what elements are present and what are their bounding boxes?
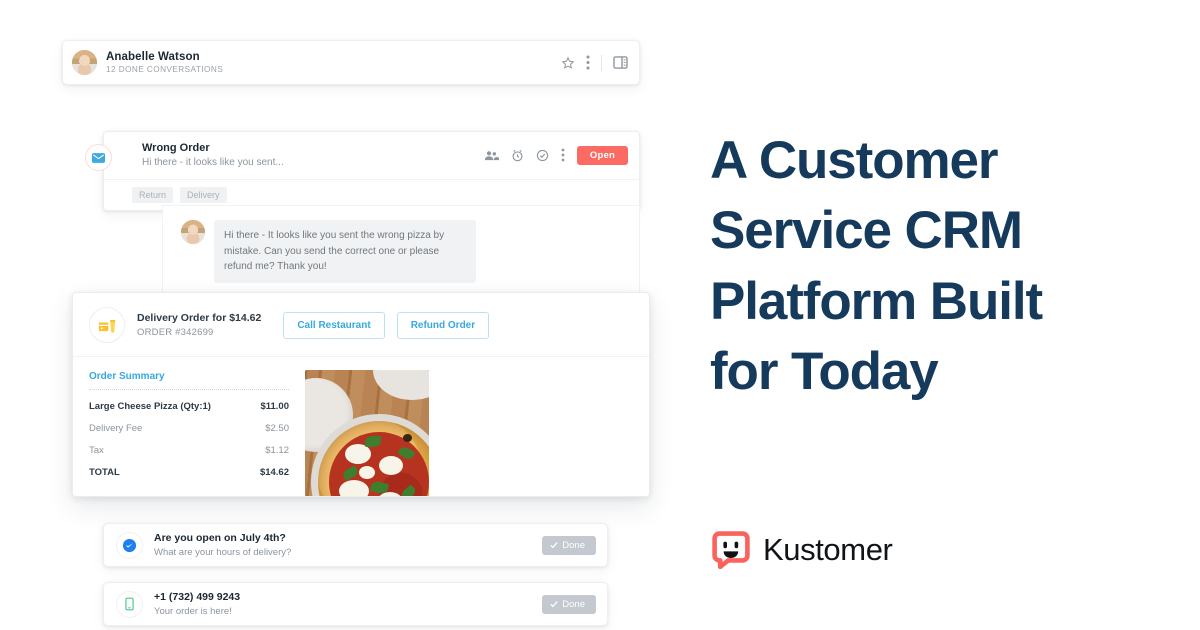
order-card-buttons: Call Restaurant Refund Order (283, 312, 489, 339)
food-delivery-icon (89, 307, 125, 343)
contact-meta: Anabelle Watson 12 DONE CONVERSATIONS (106, 51, 561, 74)
pizza-photo (305, 370, 429, 497)
call-restaurant-button[interactable]: Call Restaurant (283, 312, 384, 339)
email-envelope-icon (85, 144, 112, 171)
conversation-summary: Wrong Order Hi there - it looks like you… (104, 132, 639, 179)
conversation-card[interactable]: Wrong Order Hi there - it looks like you… (103, 131, 640, 211)
tag-chip[interactable]: Delivery (180, 187, 227, 203)
done-button[interactable]: Done (542, 536, 596, 555)
more-vertical-icon[interactable] (586, 55, 590, 70)
list-item-subtitle: What are your hours of delivery? (154, 547, 542, 558)
conversation-text: Wrong Order Hi there - it looks like you… (142, 142, 484, 168)
mobile-phone-icon (116, 591, 143, 618)
more-vertical-icon[interactable] (561, 148, 565, 162)
refund-order-button[interactable]: Refund Order (397, 312, 489, 339)
done-button-label: Done (562, 599, 585, 610)
list-item-title: +1 (732) 499 9243 (154, 591, 542, 603)
list-item-subtitle: Your order is here! (154, 606, 542, 617)
mark-done-icon[interactable] (536, 149, 549, 162)
divider (601, 55, 602, 71)
page-title: A Customer Service CRM Platform Built fo… (710, 126, 1170, 408)
order-summary-heading: Order Summary (89, 371, 289, 382)
order-card-title-block: Delivery Order for $14.62 ORDER #342699 (137, 312, 261, 338)
divider (89, 389, 289, 390)
order-line-item: Tax $1.12 (89, 445, 289, 456)
list-item[interactable]: Are you open on July 4th? What are your … (103, 523, 608, 567)
list-item-text: +1 (732) 499 9243 Your order is here! (154, 591, 542, 617)
conversation-actions: Open (484, 146, 628, 165)
line-value: $2.50 (265, 423, 289, 434)
star-icon[interactable] (561, 56, 575, 70)
promo-graphic: Anabelle Watson 12 DONE CONVERSATIONS (0, 0, 1200, 630)
line-value: $11.00 (260, 401, 289, 412)
order-number: ORDER #342699 (137, 327, 261, 338)
list-item-title: Are you open on July 4th? (154, 532, 542, 544)
tag-chip[interactable]: Return (132, 187, 173, 203)
order-total-row: TOTAL $14.62 (89, 467, 289, 478)
kustomer-logo: Kustomer (712, 531, 892, 569)
kustomer-app-mockup: Anabelle Watson 12 DONE CONVERSATIONS (62, 40, 640, 600)
contact-conversation-count: 12 DONE CONVERSATIONS (106, 65, 561, 74)
line-label: Tax (89, 445, 104, 456)
check-icon (550, 541, 558, 549)
done-button-label: Done (562, 540, 585, 551)
chat-bubble-icon (116, 532, 143, 559)
panel-toggle-icon[interactable] (613, 56, 628, 69)
check-icon (550, 600, 558, 608)
assign-team-icon[interactable] (484, 150, 499, 161)
list-item[interactable]: +1 (732) 499 9243 Your order is here! Do… (103, 582, 608, 626)
line-label: Large Cheese Pizza (Qty:1) (89, 401, 211, 412)
snooze-clock-icon[interactable] (511, 149, 524, 162)
avatar (72, 50, 97, 75)
avatar (181, 220, 205, 244)
contact-header: Anabelle Watson 12 DONE CONVERSATIONS (62, 40, 640, 85)
kustomer-wordmark: Kustomer (763, 532, 892, 568)
line-label: TOTAL (89, 467, 120, 478)
order-detail-card: Delivery Order for $14.62 ORDER #342699 … (72, 292, 650, 497)
marketing-copy: A Customer Service CRM Platform Built fo… (710, 126, 1170, 408)
list-item-text: Are you open on July 4th? What are your … (154, 532, 542, 558)
order-card-body: Order Summary Large Cheese Pizza (Qty:1)… (73, 356, 649, 497)
order-line-item: Large Cheese Pizza (Qty:1) $11.00 (89, 401, 289, 412)
message-incoming: Hi there - It looks like you sent the wr… (181, 220, 621, 283)
contact-name: Anabelle Watson (106, 51, 561, 63)
conversation-title: Wrong Order (142, 142, 484, 154)
contact-header-actions (561, 55, 628, 71)
conversation-preview: Hi there - it looks like you sent... (142, 157, 484, 168)
line-label: Delivery Fee (89, 423, 142, 434)
line-value: $1.12 (265, 445, 289, 456)
order-title: Delivery Order for $14.62 (137, 312, 261, 324)
order-card-header: Delivery Order for $14.62 ORDER #342699 … (73, 293, 649, 356)
kustomer-smiley-bubble-icon (712, 531, 750, 569)
line-value: $14.62 (260, 467, 289, 478)
message-bubble: Hi there - It looks like you sent the wr… (214, 220, 476, 283)
order-line-item: Delivery Fee $2.50 (89, 423, 289, 434)
order-summary-column: Order Summary Large Cheese Pizza (Qty:1)… (73, 357, 305, 497)
done-button[interactable]: Done (542, 595, 596, 614)
status-badge-open[interactable]: Open (577, 146, 628, 165)
